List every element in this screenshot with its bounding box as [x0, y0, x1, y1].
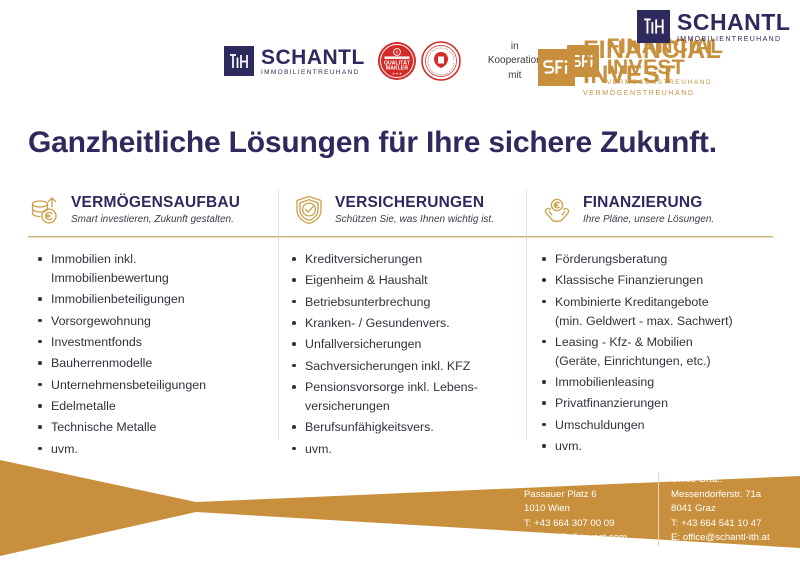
list-item-label: Unternehmensbeteiligungen [51, 378, 206, 392]
office-title: Office Wien: [524, 473, 652, 488]
list-item-label: Kombinierte Kreditangebote [555, 295, 709, 309]
column-title: VERMÖGENSAUFBAU [71, 194, 240, 212]
section-divider-rule [28, 236, 773, 238]
list-item-label: Eigenheim & Haushalt [305, 273, 428, 287]
list-item: Kreditversicherungen [290, 250, 526, 269]
list-item-label: Vorsorgewohnung [51, 314, 151, 328]
schantl-name: SCHANTL [261, 47, 365, 68]
list-item-label: Pensionsvorsorge inkl. Lebens- [305, 380, 478, 394]
schantl-lockup-topright: SCHANTL IMMOBILIENTREUHAND [637, 10, 790, 43]
list-item-label: Leasing - Kfz- & Mobilien [555, 335, 693, 349]
column-header: VERSICHERUNGEN Schützen Sie, was Ihnen w… [292, 188, 510, 232]
list-item-continuation: (Geräte, Einrichtungen, etc.) [555, 352, 780, 371]
list-item: Immobilien inkl. Immobilienbewertung [36, 250, 268, 288]
list-item-label: Technische Metalle [51, 420, 156, 434]
list-item: Investmentfonds [36, 333, 268, 352]
office-street: Messendorferstr. 71a [671, 488, 800, 503]
column-titles: VERSICHERUNGEN Schützen Sie, was Ihnen w… [335, 194, 494, 226]
column-vermoegensaufbau: VERMÖGENSAUFBAU Smart investieren, Zukun… [28, 188, 278, 232]
list-item-label: Klassische Finanzierungen [555, 273, 703, 287]
office-email[interactable]: E: office@schantl-ith.at [671, 531, 800, 546]
column-title: FINANZIERUNG [583, 194, 714, 212]
list-item-label: Privatfinanzierungen [555, 396, 668, 410]
list-versicherungen: Kreditversicherungen Eigenheim & Haushal… [290, 250, 526, 461]
sfi-monogram-mark-topright [538, 49, 575, 86]
office-city: 8041 Graz [671, 502, 800, 517]
svg-text:★ ★ ★: ★ ★ ★ [392, 72, 402, 76]
list-item-label: Förderungsberatung [555, 252, 667, 266]
office-city: 1010 Wien [524, 502, 652, 517]
list-item: Vorsorgewohnung [36, 312, 268, 331]
logo-bar: SCHANTL IMMOBILIENTREUHAND € QUALITÄT MA… [0, 0, 800, 108]
list-item-label: Sachversicherungen inkl. KFZ [305, 359, 470, 373]
list-item: Unfallversicherungen [290, 335, 526, 354]
sfi-name-topright: FINANCIAL INVEST [583, 38, 800, 88]
list-item: Technische Metalle [36, 418, 268, 437]
schantl-wordmark: SCHANTL IMMOBILIENTREUHAND [261, 47, 365, 77]
shield-check-icon [292, 193, 326, 227]
coins-euro-growth-icon [28, 193, 62, 227]
list-item-continuation: versicherungen [305, 397, 526, 416]
list-item-label: Investmentfonds [51, 335, 142, 349]
poster-page: SCHANTL IMMOBILIENTREUHAND € QUALITÄT MA… [0, 0, 800, 564]
schantl-wordmark-topright: SCHANTL IMMOBILIENTREUHAND [677, 11, 790, 43]
office-phone[interactable]: T: +43 664 541 10 47 [671, 517, 800, 532]
list-item-label: Kranken- / Gesundenvers. [305, 316, 450, 330]
austrian-crest-seal [421, 41, 461, 81]
office-title: Office Graz: [671, 473, 800, 488]
list-item: Sachversicherungen inkl. KFZ [290, 357, 526, 376]
list-item-label: Betriebsunterbrechung [305, 295, 430, 309]
svg-text:MAKLER: MAKLER [386, 66, 408, 72]
list-item: Edelmetalle [36, 397, 268, 416]
list-item-label: Unfallversicherungen [305, 337, 421, 351]
service-columns: VERMÖGENSAUFBAU Smart investieren, Zukun… [28, 188, 773, 232]
list-item: Förderungsberatung [540, 250, 780, 269]
schantl-subtitle-topright: IMMOBILIENTREUHAND [677, 36, 790, 43]
quality-seals: € QUALITÄT MAKLER ★ ★ ★ [377, 41, 461, 81]
ith-monogram-mark-topright [637, 10, 670, 43]
list-item-label: Umschuldungen [555, 418, 645, 432]
column-subtitle: Schützen Sie, was Ihnen wichtig ist. [335, 214, 494, 226]
column-header: FINANZIERUNG Ihre Pläne, unsere Lösungen… [540, 188, 773, 232]
list-item: Betriebsunterbrechung [290, 293, 526, 312]
ith-monogram-mark [224, 46, 254, 76]
list-item: Immobilienleasing [540, 373, 780, 392]
list-item-continuation: Immobilienbewertung [51, 269, 268, 288]
sfi-subtitle-topright: VERMÖGENSTREUHAND [583, 90, 800, 97]
office-contacts: Office Wien: Passauer Platz 6 1010 Wien … [524, 473, 800, 546]
list-item-label: Bauherrenmodelle [51, 356, 152, 370]
list-item-label: Immobilienbeteiligungen [51, 292, 185, 306]
list-item: Umschuldungen [540, 416, 780, 435]
column-versicherungen: VERSICHERUNGEN Schützen Sie, was Ihnen w… [278, 188, 526, 232]
list-item: Immobilienbeteiligungen [36, 290, 268, 309]
column-title: VERSICHERUNGEN [335, 194, 494, 212]
qualitaetsmakler-seal: € QUALITÄT MAKLER ★ ★ ★ [377, 41, 417, 81]
list-item: Kombinierte Kreditangebote (min. Geldwer… [540, 293, 780, 331]
list-item: Privatfinanzierungen [540, 394, 780, 413]
sfi-lockup-topright: FINANCIAL INVEST VERMÖGENSTREUHAND [538, 38, 800, 97]
list-item-label: Berufsunfähigkeitsvers. [305, 420, 434, 434]
column-finanzierung: FINANZIERUNG Ihre Pläne, unsere Lösungen… [526, 188, 773, 232]
list-item: Pensionsvorsorge inkl. Lebens- versicher… [290, 378, 526, 416]
office-graz-block: Office Graz: Messendorferstr. 71a 8041 G… [658, 473, 800, 546]
list-item: Klassische Finanzierungen [540, 271, 780, 290]
list-item-label: Immobilien inkl. [51, 252, 136, 266]
office-email[interactable]: E: office@sfi-invest.com [524, 531, 652, 546]
office-street: Passauer Platz 6 [524, 488, 652, 503]
column-subtitle: Ihre Pläne, unsere Lösungen. [583, 214, 714, 226]
column-subtitle: Smart investieren, Zukunft gestalten. [71, 214, 240, 226]
list-item-label: Edelmetalle [51, 399, 116, 413]
column-titles: VERMÖGENSAUFBAU Smart investieren, Zukun… [71, 194, 240, 226]
list-item-label: Immobilienleasing [555, 375, 654, 389]
page-title: Ganzheitliche Lösungen für Ihre sichere … [28, 126, 776, 160]
sfi-wordmark-topright: FINANCIAL INVEST VERMÖGENSTREUHAND [583, 38, 800, 97]
list-item: Leasing - Kfz- & Mobilien (Geräte, Einri… [540, 333, 780, 371]
schantl-subtitle: IMMOBILIENTREUHAND [261, 70, 365, 77]
list-item: Kranken- / Gesundenvers. [290, 314, 526, 333]
schantl-name-topright: SCHANTL [677, 11, 790, 34]
hands-holding-coin-icon [540, 193, 574, 227]
column-titles: FINANZIERUNG Ihre Pläne, unsere Lösungen… [583, 194, 714, 226]
list-item: Unternehmensbeteiligungen [36, 376, 268, 395]
list-item-label: uvm. [555, 439, 582, 453]
list-item-continuation: (min. Geldwert - max. Sachwert) [555, 312, 780, 331]
office-phone[interactable]: T: +43 664 307 00 09 [524, 517, 652, 532]
list-item: Eigenheim & Haushalt [290, 271, 526, 290]
list-item-label: Kreditversicherungen [305, 252, 422, 266]
list-item: Bauherrenmodelle [36, 354, 268, 373]
column-header: VERMÖGENSAUFBAU Smart investieren, Zukun… [28, 188, 262, 232]
office-wien-block: Office Wien: Passauer Platz 6 1010 Wien … [524, 473, 652, 546]
list-item: Berufsunfähigkeitsvers. [290, 418, 526, 437]
list-finanzierung: Förderungsberatung Klassische Finanzieru… [540, 250, 780, 458]
list-vermoegensaufbau: Immobilien inkl. Immobilienbewertung Imm… [36, 250, 268, 461]
